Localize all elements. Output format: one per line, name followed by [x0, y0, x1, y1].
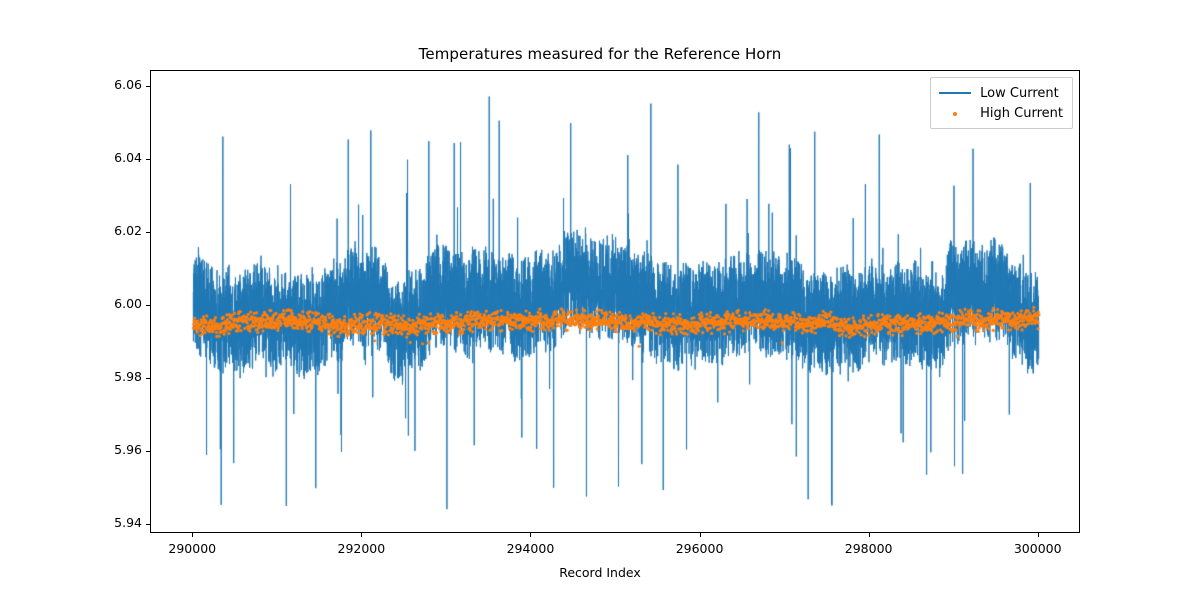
x-axis-label: Record Index [0, 565, 1200, 580]
y-tick-label: 5.96 [114, 444, 142, 457]
y-tick-mark [146, 378, 150, 379]
y-tick-label: 6.02 [114, 225, 142, 238]
legend-label-low-current: Low Current [980, 86, 1059, 101]
y-tick-label: 5.98 [114, 371, 142, 384]
x-tick-mark [361, 533, 362, 537]
y-tick-label: 6.06 [114, 79, 142, 92]
y-tick-mark [146, 86, 150, 87]
x-tick-label: 292000 [338, 541, 386, 556]
y-tick-label: 5.94 [114, 517, 142, 530]
plot-axes: Low Current High Current [150, 70, 1080, 533]
y-tick-label: 6.00 [114, 298, 142, 311]
x-tick-label: 296000 [676, 541, 724, 556]
legend-item-low-current[interactable]: Low Current [938, 83, 1063, 103]
y-tick-mark [146, 451, 150, 452]
x-tick-label: 290000 [168, 541, 216, 556]
x-tick-mark [192, 533, 193, 537]
y-tick-mark [146, 159, 150, 160]
y-tick-mark [146, 232, 150, 233]
chart-title: Temperatures measured for the Reference … [0, 45, 1200, 63]
chart-legend[interactable]: Low Current High Current [930, 77, 1073, 129]
x-tick-mark [1038, 533, 1039, 537]
legend-dot-swatch-icon [938, 106, 972, 120]
x-tick-mark [869, 533, 870, 537]
matplotlib-figure: Temperatures measured for the Reference … [0, 0, 1200, 600]
x-tick-mark [530, 533, 531, 537]
legend-label-high-current: High Current [980, 106, 1063, 121]
x-tick-mark [700, 533, 701, 537]
y-tick-mark [146, 305, 150, 306]
x-tick-label: 300000 [1014, 541, 1062, 556]
x-tick-label: 294000 [507, 541, 555, 556]
y-tick-mark [146, 524, 150, 525]
y-tick-label: 6.04 [114, 152, 142, 165]
legend-line-swatch-icon [938, 86, 972, 100]
x-tick-label: 298000 [845, 541, 893, 556]
legend-item-high-current[interactable]: High Current [938, 103, 1063, 123]
plot-data-canvas [151, 71, 1080, 533]
